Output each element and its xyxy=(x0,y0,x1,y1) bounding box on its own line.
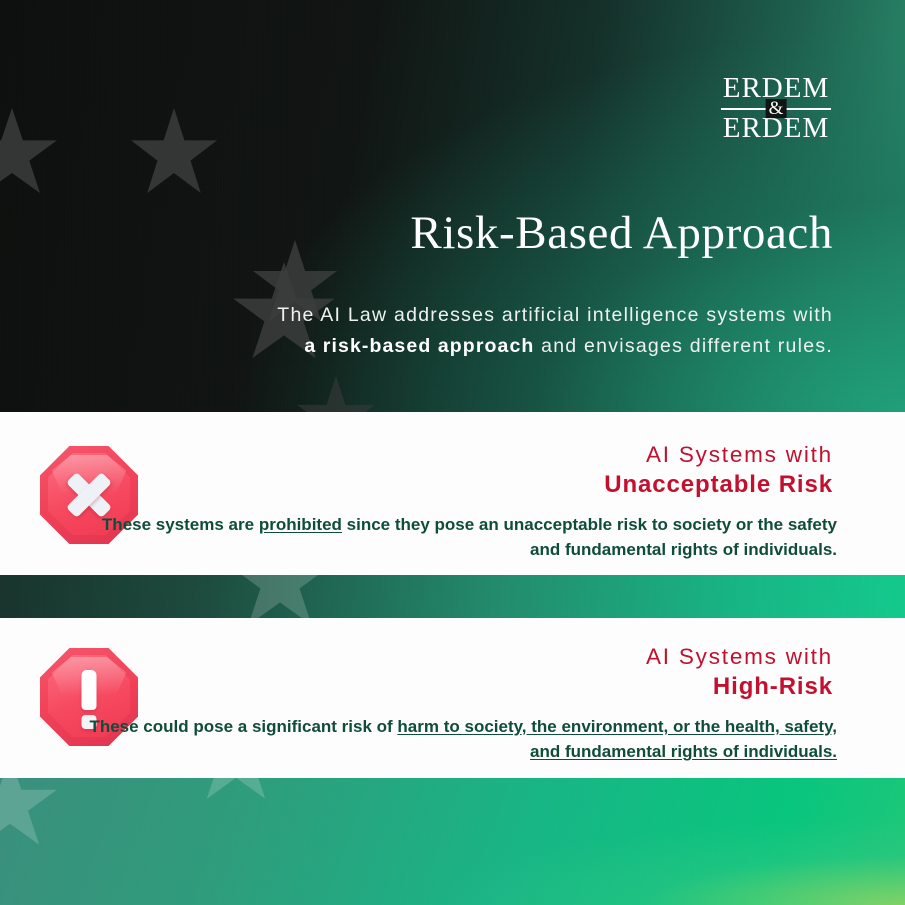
card-heading-line2: Unacceptable Risk xyxy=(604,471,833,499)
band-texture-overlay xyxy=(0,778,905,905)
card-heading-high-risk: AI Systems with High-Risk xyxy=(646,644,833,701)
hero-section: ERDEM & ERDEM Risk-Based Approach The AI… xyxy=(0,0,905,412)
card-heading-unacceptable: AI Systems with Unacceptable Risk xyxy=(604,442,833,499)
decorative-star xyxy=(0,778,58,852)
page-title: Risk-Based Approach xyxy=(0,206,833,260)
hero-subtitle-emphasis: a risk-based approach xyxy=(304,335,534,357)
decorative-star xyxy=(130,108,218,200)
decorative-star xyxy=(296,376,376,412)
card-heading-line1: AI Systems with xyxy=(604,442,833,469)
logo-ampersand: & xyxy=(766,99,787,118)
card-body-unacceptable: These systems are prohibited since they … xyxy=(68,512,837,562)
green-divider-band xyxy=(0,575,905,618)
risk-card-high-risk: AI Systems with High-Risk These could po… xyxy=(0,618,905,778)
decorative-star xyxy=(0,108,58,200)
card-body-underlined: prohibited xyxy=(259,515,342,534)
decorative-star xyxy=(228,575,332,618)
logo-divider-rule: & xyxy=(721,108,831,110)
card-body-pre: These could pose a significant risk of xyxy=(89,717,397,736)
card-body-high-risk: These could pose a significant risk of h… xyxy=(68,714,837,764)
brand-logo: ERDEM & ERDEM xyxy=(721,74,831,143)
hero-subtitle-line1: The AI Law addresses artificial intellig… xyxy=(277,304,833,326)
band-texture-overlay xyxy=(0,575,905,618)
decorative-star xyxy=(188,778,284,806)
card-body-underlined: harm to society, the environment, or the… xyxy=(397,717,837,761)
card-heading-line2: High-Risk xyxy=(646,673,833,701)
card-heading-line1: AI Systems with xyxy=(646,644,833,671)
hero-subtitle: The AI Law addresses artificial intellig… xyxy=(0,300,833,362)
hero-subtitle-line2-rest: and envisages different rules. xyxy=(534,335,833,357)
risk-card-unacceptable: AI Systems with Unacceptable Risk These … xyxy=(0,412,905,575)
footer-band xyxy=(0,778,905,905)
card-body-pre: These systems are xyxy=(102,515,259,534)
card-body-post: since they pose an unacceptable risk to … xyxy=(342,515,837,559)
infographic-page: ERDEM & ERDEM Risk-Based Approach The AI… xyxy=(0,0,905,905)
